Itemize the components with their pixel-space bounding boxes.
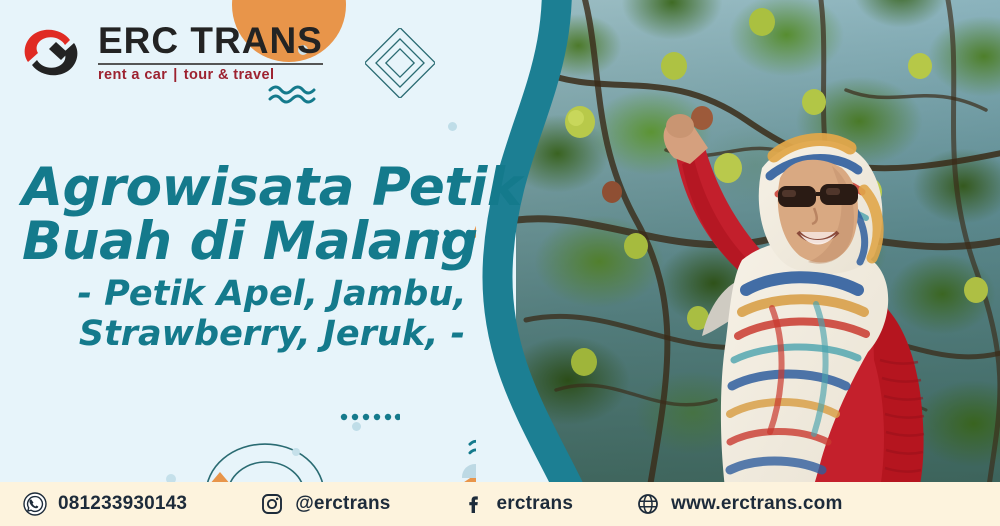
contact-instagram[interactable]: @erctrans xyxy=(259,492,390,517)
facebook-icon xyxy=(461,492,486,517)
teal-wave-lines-decoration xyxy=(268,82,326,108)
tagline-separator: | xyxy=(173,67,177,83)
contact-website[interactable]: www.erctrans.com xyxy=(635,492,842,517)
dot-decoration xyxy=(448,122,457,131)
brand-name: ERC TRANS xyxy=(98,22,323,59)
globe-icon xyxy=(635,492,660,517)
photo-apples xyxy=(516,0,1000,510)
photo-foliage xyxy=(516,0,1000,510)
instagram-handle: @erctrans xyxy=(295,493,390,515)
website-url: www.erctrans.com xyxy=(671,493,842,515)
teal-curved-band-decoration xyxy=(476,0,1000,526)
headline-block: Agrowisata Petik Buah di Malang - Petik … xyxy=(22,162,522,355)
contact-footer-bar: 081233930143 @erctrans erctrans xyxy=(0,482,1000,526)
semi-circle-decoration xyxy=(462,464,488,478)
brand-logo[interactable]: ERC TRANS rent a car | tour & travel xyxy=(18,22,323,83)
dot-decoration xyxy=(352,422,361,431)
white-curve-line-decoration xyxy=(524,0,675,130)
brand-tagline: rent a car | tour & travel xyxy=(98,67,323,83)
facebook-handle: erctrans xyxy=(497,493,574,515)
dot-decoration xyxy=(548,296,560,308)
orange-triangle-bottom-decoration xyxy=(430,330,690,505)
headline-line-4: Strawberry, Jeruk, - xyxy=(22,315,522,355)
tagline-rent-a-car: rent a car xyxy=(98,67,167,83)
photo-person-picking-apple xyxy=(646,60,1000,510)
dot-decoration xyxy=(292,448,300,456)
instagram-icon xyxy=(259,492,284,517)
photo-sky xyxy=(516,0,1000,510)
tagline-tour-travel: tour & travel xyxy=(184,67,275,83)
headline-line-2: Buah di Malang xyxy=(22,216,522,268)
headline-line-3: - Petik Apel, Jambu, xyxy=(22,275,522,315)
contact-whatsapp[interactable]: 081233930143 xyxy=(22,492,187,517)
teal-wave-lines-lower-decoration xyxy=(468,436,524,462)
contact-facebook[interactable]: erctrans xyxy=(461,492,574,517)
orchard-photo xyxy=(516,0,1000,510)
whatsapp-icon xyxy=(22,492,47,517)
erc-circular-logo-icon xyxy=(18,22,84,82)
headline-line-1: Agrowisata Petik xyxy=(22,162,522,214)
white-wave-lines-decoration xyxy=(850,430,936,460)
photo-branches xyxy=(516,0,1000,510)
concentric-diamonds-decoration xyxy=(365,28,435,98)
whatsapp-number: 081233930143 xyxy=(58,493,187,515)
dot-row-lower-decoration xyxy=(340,412,400,422)
promotional-banner: ERC TRANS rent a car | tour & travel Agr… xyxy=(0,0,1000,526)
logo-divider xyxy=(98,63,323,65)
